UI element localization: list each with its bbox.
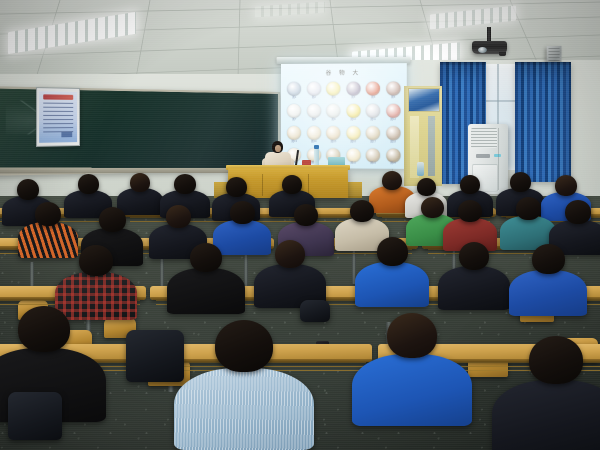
student-head: [190, 243, 222, 272]
student-torso: [213, 220, 271, 255]
backpack: [126, 330, 184, 382]
student-head: [417, 178, 436, 196]
student-head: [226, 177, 247, 197]
desk-leg: [244, 250, 248, 290]
student-head: [510, 172, 531, 192]
student-head: [516, 197, 541, 220]
student-head: [35, 202, 61, 226]
student-head: [459, 242, 489, 270]
student-head: [79, 245, 113, 276]
student-head: [215, 320, 273, 372]
student-torso: [492, 380, 600, 450]
student-head: [17, 179, 39, 200]
student-head: [382, 171, 402, 190]
audience-layer: [0, 0, 600, 450]
student-head: [282, 175, 302, 194]
student-head: [78, 174, 99, 194]
student-head: [555, 175, 577, 196]
student-torso: [117, 188, 163, 215]
student-head: [377, 237, 408, 266]
student-torso: [18, 222, 78, 258]
student-head: [350, 200, 374, 222]
student-head: [174, 174, 196, 194]
student-head: [275, 240, 305, 268]
backpack: [300, 300, 330, 322]
student-head: [387, 313, 437, 358]
student-torso: [438, 266, 510, 310]
student-head: [532, 244, 565, 274]
student-torso: [55, 272, 137, 320]
student-head: [18, 306, 70, 352]
student-head: [99, 207, 126, 232]
student-head: [421, 197, 444, 218]
student-torso: [355, 262, 429, 307]
student-head: [460, 175, 480, 194]
student-head: [130, 173, 150, 192]
student-head: [230, 201, 255, 224]
student-torso: [509, 270, 587, 316]
student-head: [294, 204, 318, 226]
classroom-lecture-photo: 谷 物 大 图1图2图3图4图5图6图7图8图9图10图11图12图13图14图…: [0, 0, 600, 450]
desk-edge: [176, 359, 372, 362]
student-torso: [352, 354, 472, 426]
backpack: [8, 392, 62, 440]
student-head: [458, 200, 482, 222]
student-head: [565, 200, 591, 224]
student-torso: [174, 368, 314, 450]
student-torso: [167, 268, 245, 314]
desk: [176, 344, 372, 362]
student-head: [529, 336, 583, 384]
student-head: [166, 205, 191, 228]
